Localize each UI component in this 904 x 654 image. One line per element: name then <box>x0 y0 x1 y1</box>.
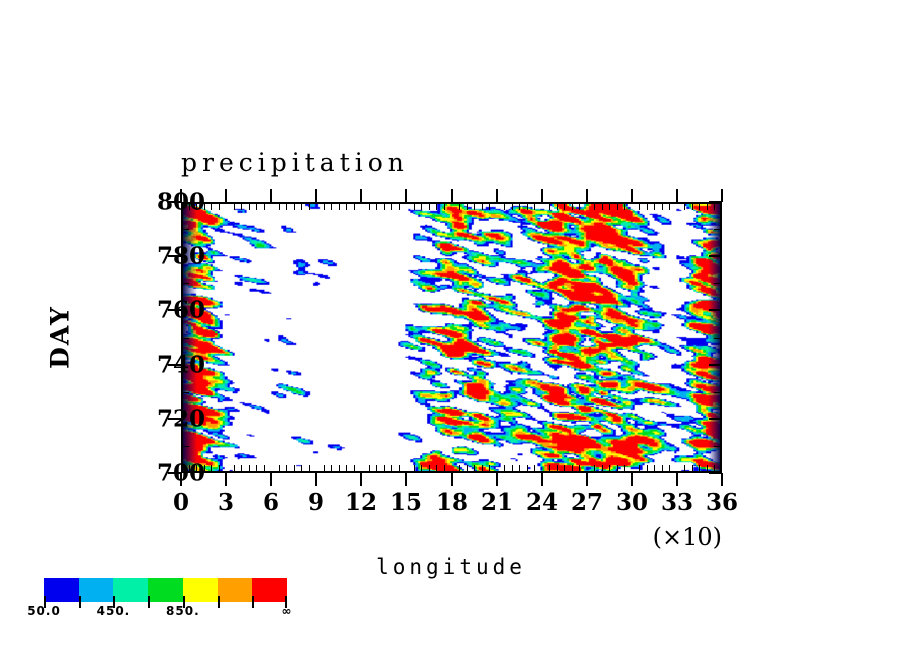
x-tick-minor <box>324 203 325 210</box>
x-tick-minor <box>692 465 693 472</box>
colorbar-label: 450. <box>97 604 131 618</box>
x-tick-minor <box>376 465 377 472</box>
x-tick-minor <box>512 465 513 472</box>
y-tick-minor <box>714 392 721 393</box>
x-tick-major <box>586 189 588 202</box>
x-tick-minor <box>714 465 715 472</box>
figure-root: precipitation 03691215182124273033367007… <box>0 0 904 654</box>
x-tick-minor <box>399 465 400 472</box>
x-tick-minor <box>474 203 475 210</box>
colorbar-label: 50.0 <box>27 604 61 618</box>
x-tick-minor <box>369 203 370 210</box>
x-tick-label: 33 <box>661 489 693 516</box>
x-tick-minor <box>639 465 640 472</box>
x-tick-minor <box>714 203 715 210</box>
x-tick-major <box>541 189 543 202</box>
x-tick-minor <box>309 465 310 472</box>
x-tick-minor <box>594 203 595 210</box>
x-tick-minor <box>527 203 528 210</box>
x-tick-minor <box>624 203 625 210</box>
x-tick-major <box>541 473 543 486</box>
x-tick-minor <box>669 203 670 210</box>
x-tick-minor <box>519 465 520 472</box>
x-tick-minor <box>354 203 355 210</box>
x-tick-minor <box>692 203 693 210</box>
x-tick-major <box>360 189 362 202</box>
x-tick-minor <box>301 465 302 472</box>
x-tick-minor <box>467 203 468 210</box>
y-tick-major <box>709 418 722 420</box>
x-tick-minor <box>549 465 550 472</box>
x-tick-minor <box>459 465 460 472</box>
x-tick-major <box>360 473 362 486</box>
x-tick-minor <box>579 203 580 210</box>
x-tick-minor <box>264 465 265 472</box>
x-tick-minor <box>436 203 437 210</box>
x-tick-label: 27 <box>571 489 603 516</box>
x-tick-label: 21 <box>481 489 513 516</box>
x-tick-minor <box>331 203 332 210</box>
x-tick-minor <box>707 203 708 210</box>
x-tick-minor <box>294 203 295 210</box>
x-tick-minor <box>669 465 670 472</box>
x-tick-minor <box>391 465 392 472</box>
x-tick-minor <box>617 465 618 472</box>
x-tick-minor <box>654 465 655 472</box>
y-tick-minor <box>714 283 721 284</box>
x-tick-major <box>405 189 407 202</box>
x-tick-minor <box>346 203 347 210</box>
x-tick-label: 3 <box>218 489 234 516</box>
x-tick-minor <box>684 203 685 210</box>
colorbar-band-5 <box>218 578 253 602</box>
x-tick-major <box>676 189 678 202</box>
x-tick-minor <box>279 203 280 210</box>
x-tick-minor <box>602 465 603 472</box>
x-tick-minor <box>459 203 460 210</box>
colorbar-tick <box>79 596 81 608</box>
x-tick-major <box>676 473 678 486</box>
x-tick-minor <box>557 203 558 210</box>
x-tick-major <box>496 473 498 486</box>
x-tick-minor <box>662 203 663 210</box>
x-tick-minor <box>256 465 257 472</box>
x-axis-multiplier-note: (×10) <box>653 523 722 551</box>
plot-area[interactable] <box>181 202 722 473</box>
y-tick-minor <box>182 229 189 230</box>
x-tick-minor <box>241 465 242 472</box>
x-tick-minor <box>429 465 430 472</box>
x-tick-minor <box>707 465 708 472</box>
y-tick-minor <box>182 283 189 284</box>
x-tick-minor <box>309 203 310 210</box>
x-tick-label: 0 <box>173 489 189 516</box>
x-tick-label: 6 <box>263 489 279 516</box>
x-tick-major <box>315 189 317 202</box>
x-tick-minor <box>572 203 573 210</box>
x-tick-minor <box>474 465 475 472</box>
x-tick-minor <box>421 465 422 472</box>
x-tick-minor <box>504 203 505 210</box>
x-tick-minor <box>414 203 415 210</box>
colorbar-label: ∞ <box>282 604 293 618</box>
x-tick-major <box>721 473 723 486</box>
x-tick-minor <box>609 465 610 472</box>
x-tick-minor <box>384 203 385 210</box>
x-tick-minor <box>624 465 625 472</box>
x-tick-major <box>496 189 498 202</box>
x-tick-minor <box>594 465 595 472</box>
x-tick-major <box>225 189 227 202</box>
colorbar-band-2 <box>113 578 148 602</box>
x-tick-minor <box>467 465 468 472</box>
x-tick-minor <box>662 465 663 472</box>
colorbar-band-3 <box>148 578 183 602</box>
x-tick-minor <box>512 203 513 210</box>
colorbar-band-6 <box>252 578 287 602</box>
y-tick-minor <box>182 392 189 393</box>
x-tick-minor <box>436 465 437 472</box>
x-tick-label: 12 <box>345 489 377 516</box>
x-tick-minor <box>504 465 505 472</box>
precipitation-heatmap-canvas <box>183 204 720 471</box>
x-tick-minor <box>331 465 332 472</box>
x-tick-major <box>631 189 633 202</box>
x-tick-minor <box>572 465 573 472</box>
x-tick-major <box>270 473 272 486</box>
x-tick-minor <box>564 465 565 472</box>
x-tick-minor <box>241 203 242 210</box>
x-tick-minor <box>444 465 445 472</box>
x-tick-minor <box>249 465 250 472</box>
x-tick-minor <box>647 465 648 472</box>
x-tick-minor <box>294 465 295 472</box>
x-tick-minor <box>519 203 520 210</box>
x-tick-minor <box>369 465 370 472</box>
x-tick-major <box>315 473 317 486</box>
x-tick-label: 18 <box>436 489 468 516</box>
x-tick-minor <box>609 203 610 210</box>
y-tick-major <box>709 309 722 311</box>
x-tick-minor <box>654 203 655 210</box>
x-tick-minor <box>639 203 640 210</box>
x-tick-minor <box>354 465 355 472</box>
x-tick-minor <box>617 203 618 210</box>
x-tick-minor <box>286 465 287 472</box>
x-tick-minor <box>602 203 603 210</box>
x-tick-minor <box>527 465 528 472</box>
x-tick-minor <box>489 465 490 472</box>
x-tick-minor <box>256 203 257 210</box>
x-tick-minor <box>391 203 392 210</box>
x-tick-minor <box>699 465 700 472</box>
x-tick-major <box>631 473 633 486</box>
x-tick-major <box>225 473 227 486</box>
x-tick-minor <box>684 465 685 472</box>
x-tick-minor <box>339 465 340 472</box>
x-tick-minor <box>421 203 422 210</box>
x-tick-label: 24 <box>526 489 558 516</box>
colorbar-tick <box>252 596 254 608</box>
x-tick-minor <box>211 465 212 472</box>
y-tick-major <box>709 255 722 257</box>
y-tick-major <box>709 472 722 474</box>
x-tick-label: 9 <box>308 489 324 516</box>
x-axis-label: longitude <box>376 555 526 579</box>
x-tick-major <box>586 473 588 486</box>
x-tick-minor <box>482 465 483 472</box>
x-tick-label: 15 <box>390 489 422 516</box>
x-tick-minor <box>339 203 340 210</box>
colorbar-tick <box>148 596 150 608</box>
x-tick-minor <box>234 203 235 210</box>
y-tick-minor <box>714 229 721 230</box>
x-tick-minor <box>211 203 212 210</box>
colorbar-band-4 <box>183 578 218 602</box>
x-tick-minor <box>549 203 550 210</box>
x-tick-minor <box>264 203 265 210</box>
x-tick-minor <box>444 203 445 210</box>
x-tick-minor <box>399 203 400 210</box>
x-tick-minor <box>249 203 250 210</box>
x-tick-minor <box>234 465 235 472</box>
x-tick-major <box>270 189 272 202</box>
colorbar-band-0 <box>44 578 79 602</box>
x-tick-minor <box>346 465 347 472</box>
x-tick-minor <box>489 203 490 210</box>
x-tick-major <box>451 189 453 202</box>
x-tick-minor <box>279 465 280 472</box>
y-tick-minor <box>182 338 189 339</box>
colorbar[interactable] <box>44 578 287 602</box>
x-tick-minor <box>219 465 220 472</box>
y-tick-minor <box>714 338 721 339</box>
colorbar-band-1 <box>79 578 114 602</box>
x-tick-minor <box>324 465 325 472</box>
y-tick-major <box>709 364 722 366</box>
x-tick-minor <box>219 203 220 210</box>
x-tick-minor <box>414 465 415 472</box>
y-tick-minor <box>182 446 189 447</box>
y-tick-minor <box>714 446 721 447</box>
x-tick-minor <box>286 203 287 210</box>
y-axis-label: DAY <box>46 305 75 369</box>
x-tick-minor <box>301 203 302 210</box>
x-tick-major <box>405 473 407 486</box>
x-tick-minor <box>564 203 565 210</box>
x-tick-minor <box>429 203 430 210</box>
x-tick-minor <box>647 203 648 210</box>
colorbar-label: 850. <box>166 604 200 618</box>
y-tick-major <box>709 201 722 203</box>
x-tick-minor <box>534 465 535 472</box>
x-tick-minor <box>534 203 535 210</box>
x-tick-minor <box>557 465 558 472</box>
x-tick-minor <box>376 203 377 210</box>
x-tick-label: 36 <box>706 489 738 516</box>
page-title: precipitation <box>181 148 409 177</box>
x-tick-label: 30 <box>616 489 648 516</box>
colorbar-tick <box>218 596 220 608</box>
x-tick-minor <box>384 465 385 472</box>
x-tick-minor <box>579 465 580 472</box>
x-tick-minor <box>482 203 483 210</box>
x-tick-major <box>451 473 453 486</box>
x-tick-minor <box>699 203 700 210</box>
